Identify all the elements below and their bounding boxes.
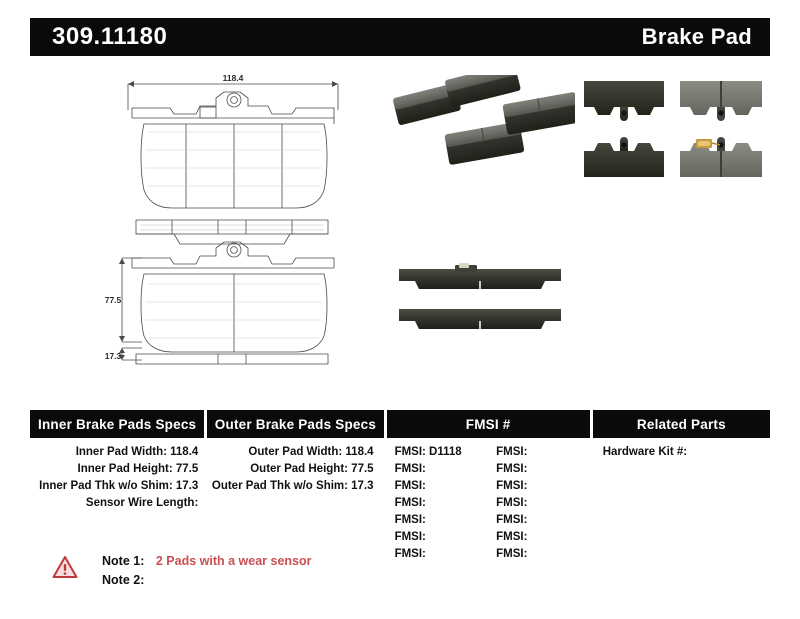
spec-row: Outer Pad Height: 77.5 [207, 461, 383, 478]
pad-bottom-left [584, 137, 664, 177]
column-header-outer-specs: Outer Brake Pads Specs [207, 410, 383, 438]
spec-row: Outer Pad Thk w/o Shim: 17.3 [207, 478, 383, 495]
notes-section: Note 1: 2 Pads with a wear sensor Note 2… [52, 552, 311, 590]
fmsi-subcolumn-right: FMSI: FMSI: FMSI: FMSI: FMSI: FMSI: FMSI… [488, 444, 590, 563]
part-number: 309.11180 [52, 25, 167, 49]
technical-drawings: 118.4 77.5 17.3 [100, 62, 365, 367]
dimension-label-thickness: 17.3 [105, 351, 122, 361]
pad-top-left [584, 81, 664, 121]
table-body: Inner Pad Width: 118.4 Inner Pad Height:… [30, 444, 770, 563]
warning-triangle-icon [52, 555, 78, 579]
pad-top-right [680, 81, 762, 121]
brake-pad-blueprint: 118.4 77.5 17.3 [100, 62, 365, 367]
related-parts-column: Hardware Kit #: [593, 444, 770, 563]
fmsi-row: FMSI: D1118 [387, 444, 489, 461]
fmsi-row: FMSI: [488, 478, 590, 495]
spec-row: Sensor Wire Length: [30, 495, 204, 512]
fmsi-row: FMSI: [387, 495, 489, 512]
fmsi-row: FMSI: [387, 512, 489, 529]
fmsi-row: FMSI: [488, 512, 590, 529]
column-header-fmsi: FMSI # [387, 410, 590, 438]
spec-row: Inner Pad Height: 77.5 [30, 461, 204, 478]
photo-brake-pads-angled [390, 75, 575, 180]
fmsi-row: FMSI: [488, 495, 590, 512]
fmsi-column: FMSI: D1118 FMSI: FMSI: FMSI: FMSI: FMSI… [387, 444, 590, 563]
fmsi-row: FMSI: [488, 529, 590, 546]
notes-text-block: Note 1: 2 Pads with a wear sensor Note 2… [102, 552, 311, 590]
edge-pad-lower [399, 309, 561, 329]
table-header-row: Inner Brake Pads Specs Outer Brake Pads … [30, 410, 770, 438]
related-part-row: Hardware Kit #: [593, 444, 770, 461]
photo-brake-pads-grid [580, 73, 770, 188]
fmsi-row: FMSI: [488, 444, 590, 461]
column-header-inner-specs: Inner Brake Pads Specs [30, 410, 204, 438]
wear-sensor-clip [696, 139, 720, 148]
pad-bottom-right-with-sensor [680, 137, 762, 177]
edge-pad-upper [399, 263, 561, 289]
fmsi-subcolumn-left: FMSI: D1118 FMSI: FMSI: FMSI: FMSI: FMSI… [387, 444, 489, 563]
spec-row: Inner Pad Width: 118.4 [30, 444, 204, 461]
note-1-value: 2 Pads with a wear sensor [156, 554, 312, 568]
spec-row: Outer Pad Width: 118.4 [207, 444, 383, 461]
inner-specs-column: Inner Pad Width: 118.4 Inner Pad Height:… [30, 444, 204, 563]
dimension-label-height: 77.5 [105, 295, 122, 305]
outer-specs-column: Outer Pad Width: 118.4 Outer Pad Height:… [207, 444, 383, 563]
note-2-label: Note 2: [102, 573, 144, 587]
photo-brake-pads-edge-view [395, 255, 565, 345]
fmsi-row: FMSI: [387, 461, 489, 478]
product-type-title: Brake Pad [642, 26, 752, 48]
column-header-related-parts: Related Parts [593, 410, 770, 438]
spec-row: Inner Pad Thk w/o Shim: 17.3 [30, 478, 204, 495]
note-2-line: Note 2: [102, 571, 311, 590]
fmsi-row: FMSI: [387, 546, 489, 563]
specifications-table: Inner Brake Pads Specs Outer Brake Pads … [30, 410, 770, 563]
fmsi-row: FMSI: [488, 461, 590, 478]
fmsi-row: FMSI: [387, 529, 489, 546]
product-photos [385, 65, 775, 365]
fmsi-row: FMSI: [488, 546, 590, 563]
dimension-label-width: 118.4 [223, 73, 244, 83]
fmsi-row: FMSI: [387, 478, 489, 495]
header-bar: 309.11180 Brake Pad [30, 18, 770, 56]
note-1-label: Note 1: [102, 554, 144, 568]
note-1-line: Note 1: 2 Pads with a wear sensor [102, 552, 311, 571]
